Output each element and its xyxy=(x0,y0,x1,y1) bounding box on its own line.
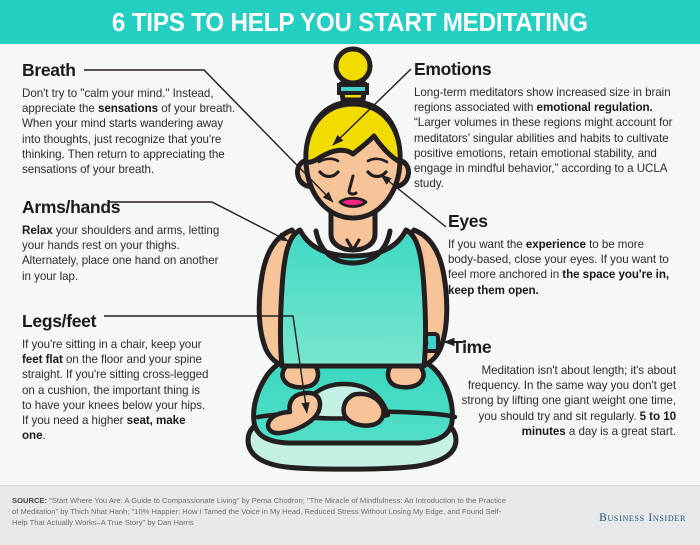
tip-legs-feet: Legs/feet If you're sitting in a chair, … xyxy=(22,311,210,443)
text-run: . xyxy=(42,429,45,442)
hair-shape xyxy=(306,49,400,162)
tip-time: Time Meditation isn't about length; it's… xyxy=(452,337,676,439)
tip-arms-hands: Arms/hands Relax your shoulders and arms… xyxy=(22,197,222,284)
tip-legs-body: If you're sitting in a chair, keep your … xyxy=(22,337,210,443)
text-run-bold: experience xyxy=(526,238,586,251)
tip-time-heading: Time xyxy=(452,337,676,358)
footer: SOURCE: "Start Where You Are: A Guide to… xyxy=(0,485,700,545)
tip-emotions-heading: Emotions xyxy=(414,59,676,80)
tip-breath-body: Don't try to "calm your mind." Instead, … xyxy=(22,86,240,177)
tip-eyes: Eyes If you want the experience to be mo… xyxy=(448,211,673,298)
header-band: 6 TIPS TO HELP YOU START MEDITATING xyxy=(0,0,700,44)
source-note: SOURCE: "Start Where You Are: A Guide to… xyxy=(12,495,512,528)
tip-arms-body: Relax your shoulders and arms, letting y… xyxy=(22,223,222,284)
tip-legs-heading: Legs/feet xyxy=(22,311,210,332)
text-run-bold: sensations xyxy=(98,102,158,115)
source-label: SOURCE: xyxy=(12,496,47,505)
tip-eyes-body: If you want the experience to be more bo… xyxy=(448,237,673,298)
source-text: "Start Where You Are: A Guide to Compass… xyxy=(12,496,506,527)
tip-eyes-heading: Eyes xyxy=(448,211,673,232)
text-run: “Larger volumes in these regions might a… xyxy=(414,116,673,190)
footer-divider xyxy=(0,485,700,486)
text-run: If you're sitting in a chair, keep your xyxy=(22,338,201,351)
tip-time-body: Meditation isn't about length; it's abou… xyxy=(452,363,676,439)
text-run-bold: feet flat xyxy=(22,353,63,366)
tip-breath-heading: Breath xyxy=(22,60,240,81)
tip-emotions-body: Long-term meditators show increased size… xyxy=(414,85,676,191)
text-run-bold: emotional regulation. xyxy=(537,101,653,114)
page-title: 6 TIPS TO HELP YOU START MEDITATING xyxy=(112,7,588,38)
tip-emotions: Emotions Long-term meditators show incre… xyxy=(414,59,676,191)
text-run-bold: Relax xyxy=(22,224,53,237)
tip-arms-heading: Arms/hands xyxy=(22,197,222,218)
tip-breath: Breath Don't try to "calm your mind." In… xyxy=(22,60,240,177)
infographic-poster: 6 TIPS TO HELP YOU START MEDITATING xyxy=(0,0,700,545)
text-run: a day is a great start. xyxy=(566,425,676,438)
text-run: If you want the xyxy=(448,238,526,251)
business-insider-logo: Business Insider xyxy=(599,512,686,524)
